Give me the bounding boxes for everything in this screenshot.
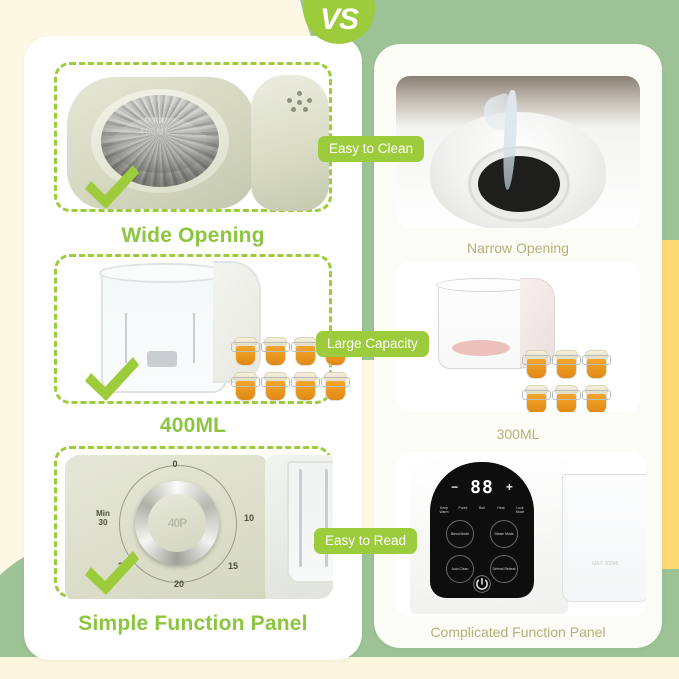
power-button-icon[interactable] [472, 574, 492, 594]
tag-easy-to-clean: Easy to Clean [318, 136, 424, 162]
mode-label[interactable]: Boil [474, 506, 490, 514]
dial-tick-15: 15 [225, 561, 241, 571]
digital-control-screen: − 88 + Keep WarmPureeBoilHeatLock Mode B… [430, 462, 534, 598]
jug-food-contents [452, 340, 510, 356]
mode-circle-button[interactable]: Blend Mode [446, 520, 474, 548]
jar-clasp [552, 390, 581, 400]
infographic-canvas: VS Narrow Opening 300ML [0, 0, 679, 679]
baby-food-jar [233, 337, 258, 367]
steam-vent-holes-icon [287, 91, 313, 117]
mode-label[interactable]: Puree [455, 506, 471, 514]
dial-brand-logo: 40P [155, 513, 199, 533]
jar-clasp [522, 390, 551, 400]
small-jug-photo [396, 262, 640, 412]
mode-circle-button[interactable]: Steam Mode [490, 520, 518, 548]
tag-easy-to-read: Easy to Read [314, 528, 417, 554]
green-checkmark-icon [81, 353, 143, 409]
jar-clasp [261, 377, 290, 387]
caption-400ml: 400ML [24, 414, 362, 438]
jar-clasp [261, 342, 290, 352]
baby-food-jar [293, 337, 318, 367]
baby-food-jar [554, 350, 579, 380]
jar-clasp [522, 355, 551, 365]
jar-clasp [582, 355, 611, 365]
baby-food-jar [584, 350, 609, 380]
display-value: 88 [470, 477, 494, 498]
jar-scale-marking: MAX 300ML [573, 561, 639, 567]
background-cream-bottom-strip [0, 657, 679, 679]
our-row-function-panel: 40P Min 30 0 10 15 20 25 [24, 440, 362, 650]
baby-food-jar [524, 350, 549, 380]
jar-clasp [582, 390, 611, 400]
jar-clasp [321, 377, 350, 387]
our-row-capacity: 400ML [24, 248, 362, 446]
mode-label-row: Keep WarmPureeBoilHeatLock Mode [436, 506, 528, 514]
vs-badge-label: VS [320, 5, 358, 44]
jug-body-outline [438, 282, 532, 369]
highlight-dashed-box-capacity [54, 254, 332, 404]
baby-food-jar [233, 372, 258, 402]
caption-simple-function-panel: Simple Function Panel [24, 612, 362, 636]
mode-circle-button[interactable]: Defrost Reheat [490, 555, 518, 583]
jar-clasp [231, 342, 260, 352]
mode-circle-button[interactable]: Auto Clean [446, 555, 474, 583]
minus-button[interactable]: − [451, 480, 458, 494]
caption-complicated-function-panel: Complicated Function Panel [374, 624, 662, 640]
display-readout-row: − 88 + [430, 476, 534, 498]
pot-volume-label: 400ML [140, 126, 171, 136]
plus-button[interactable]: + [506, 480, 513, 494]
highlight-dashed-box-panel: 40P Min 30 0 10 15 20 25 [54, 446, 332, 598]
other-row-function-panel: − 88 + Keep WarmPureeBoilHeatLock Mode B… [374, 448, 662, 658]
green-checkmark-icon [81, 161, 143, 217]
other-row-narrow-opening: Narrow Opening [374, 62, 662, 268]
baby-food-jar [584, 385, 609, 412]
jar-clasp [552, 355, 581, 365]
attached-pitcher [287, 461, 333, 583]
baby-food-jar [323, 372, 348, 402]
jar-clasp [291, 377, 320, 387]
our-row-wide-opening: MAX 400ML Wide Opening [24, 56, 362, 256]
jug-blade-assembly [147, 351, 177, 367]
jug-rim [99, 263, 229, 283]
tag-large-capacity: Large Capacity [316, 331, 429, 357]
narrow-opening-pot-photo [396, 76, 640, 228]
pot-max-marking: MAX 400ML [113, 115, 197, 137]
pot-narrow-hole [478, 156, 560, 212]
pot-max-label: MAX [144, 115, 165, 125]
baby-food-jar [263, 337, 288, 367]
green-checkmark-icon [81, 547, 143, 603]
caption-300ml: 300ML [374, 426, 662, 442]
digital-touch-panel-photo: − 88 + Keep WarmPureeBoilHeatLock Mode B… [396, 452, 646, 616]
baby-food-jars-group-300ml [524, 350, 609, 412]
dial-tick-0: 0 [167, 459, 183, 469]
dial-tick-20: 20 [171, 579, 187, 589]
baby-food-jar [524, 385, 549, 412]
appliance-measuring-jar: MAX 300ML [562, 474, 646, 602]
baby-food-jar [293, 372, 318, 402]
jar-clasp [231, 377, 260, 387]
comparison-panel-our-product: MAX 400ML Wide Opening [24, 36, 362, 660]
dial-tick-min-30: Min 30 [89, 509, 117, 527]
baby-food-jar [263, 372, 288, 402]
baby-food-jar [554, 385, 579, 412]
dial-tick-10: 10 [241, 513, 257, 523]
mode-label[interactable]: Lock Mode [512, 506, 528, 514]
caption-wide-opening: Wide Opening [24, 224, 362, 248]
mode-label[interactable]: Keep Warm [436, 506, 452, 514]
mode-label[interactable]: Heat [493, 506, 509, 514]
highlight-dashed-box-opening: MAX 400ML [54, 62, 332, 212]
